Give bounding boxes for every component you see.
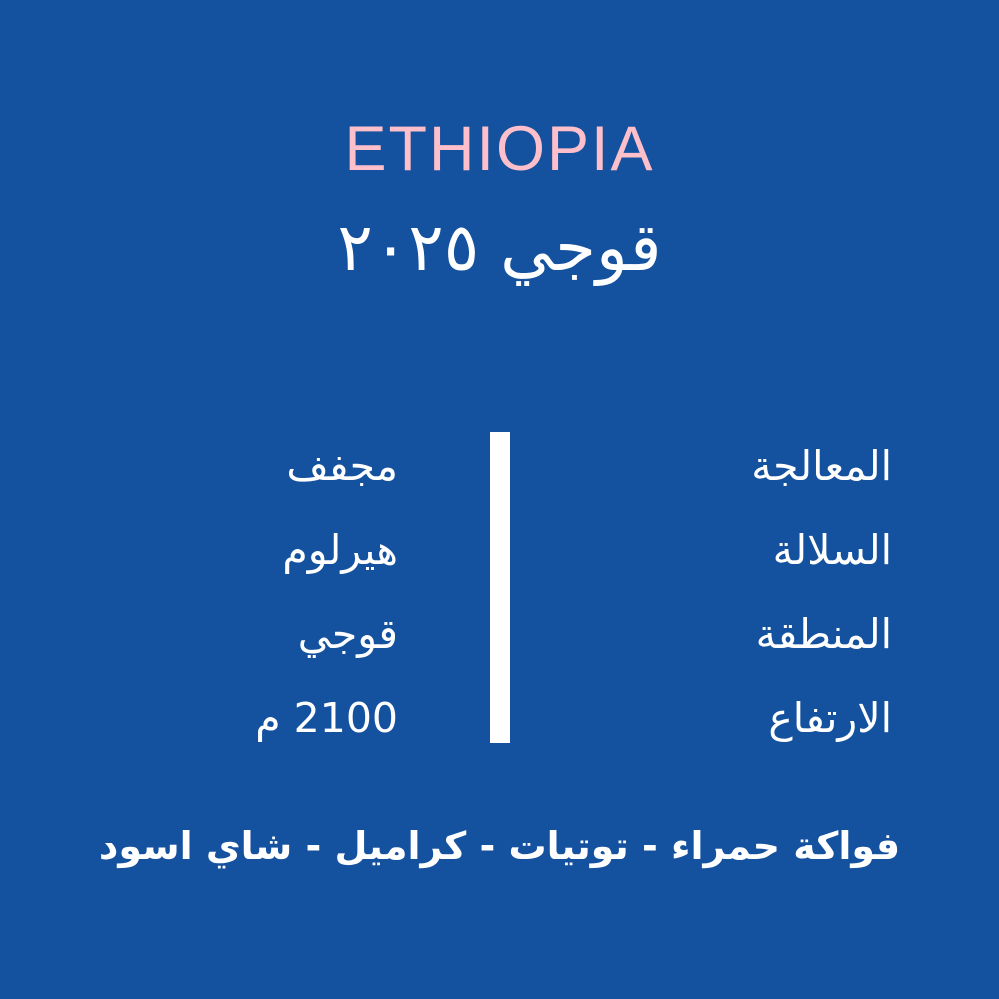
spec-label-variety: السلالة	[622, 508, 892, 592]
title-block: ETHIOPIA قوجي ٢٠٢٥	[0, 118, 999, 289]
tasting-notes: فواكة حمراء - توتيات - كراميل - شاي اسود	[0, 818, 999, 875]
spec-label-altitude: الارتفاع	[622, 676, 892, 760]
vertical-divider	[490, 432, 510, 743]
spec-value-column: مجفف هيرلوم قوجي 2100 م	[68, 424, 398, 754]
spec-label-column: المعالجة السلالة المنطقة الارتفاع	[562, 424, 892, 754]
spec-value-region: قوجي	[128, 592, 398, 676]
page-title-arabic: قوجي ٢٠٢٥	[0, 208, 999, 289]
coffee-label-card: ETHIOPIA قوجي ٢٠٢٥ المعالجة السلالة المن…	[0, 0, 999, 999]
spec-label-region: المنطقة	[622, 592, 892, 676]
spec-value-variety: هيرلوم	[128, 508, 398, 592]
spec-value-processing: مجفف	[128, 424, 398, 508]
page-title-english: ETHIOPIA	[0, 118, 999, 181]
spec-table: المعالجة السلالة المنطقة الارتفاع مجفف ه…	[0, 424, 999, 754]
spec-value-altitude: 2100 م	[128, 676, 398, 760]
spec-label-processing: المعالجة	[622, 424, 892, 508]
